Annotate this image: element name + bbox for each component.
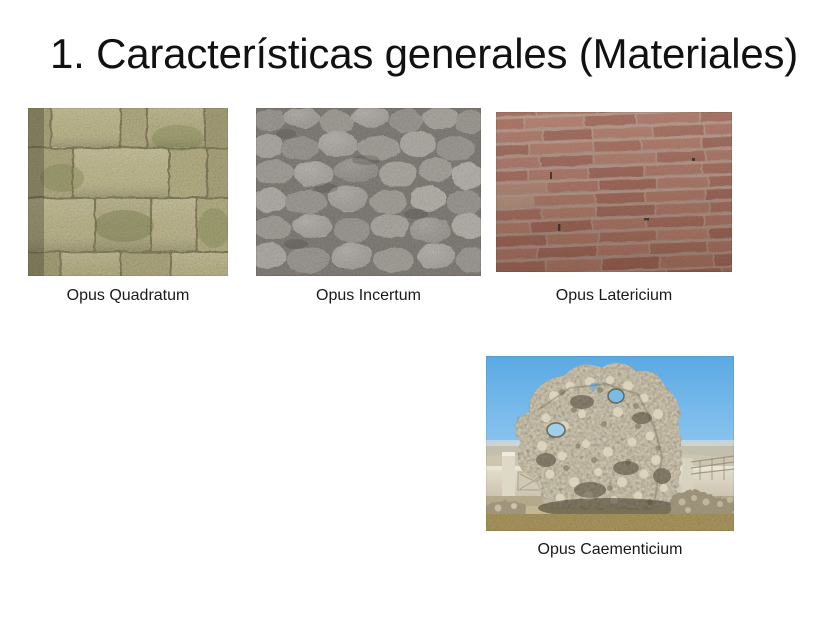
image-opus-incertum (256, 108, 481, 276)
page-title: 1. Características generales (Materiales… (50, 28, 790, 80)
figure-opus-incertum (256, 108, 481, 276)
slide-canvas: 1. Características generales (Materiales… (0, 0, 828, 621)
image-opus-quadratum (28, 108, 228, 276)
caption-opus-latericium: Opus Latericium (496, 286, 732, 306)
caption-opus-caementicium: Opus Caementicium (486, 540, 734, 560)
figure-opus-latericium (496, 112, 732, 272)
image-opus-latericium (496, 112, 732, 272)
caption-opus-incertum: Opus Incertum (256, 286, 481, 306)
caption-opus-quadratum: Opus Quadratum (28, 286, 228, 306)
image-opus-caementicium (486, 356, 734, 531)
figure-opus-caementicium (486, 356, 734, 531)
figure-opus-quadratum (28, 108, 228, 276)
